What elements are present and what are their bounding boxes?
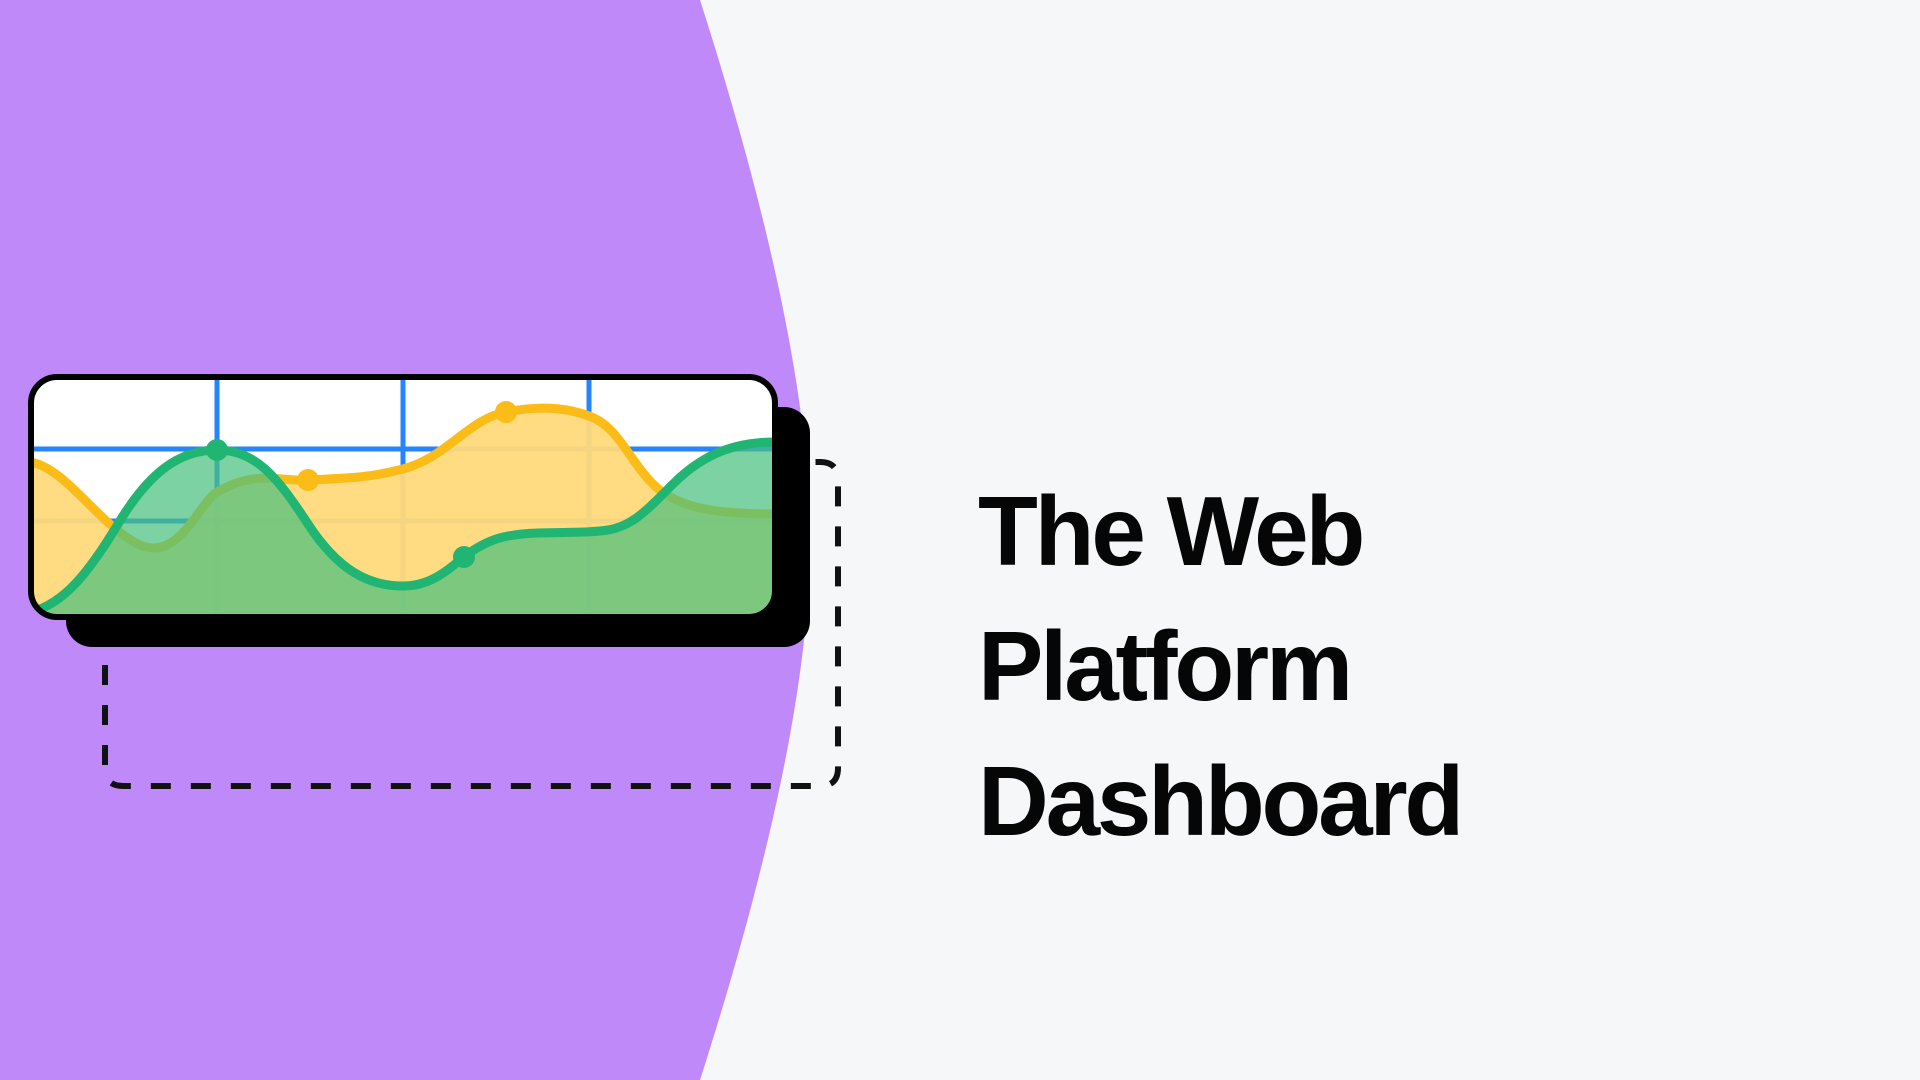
green-data-point-1[interactable] [206,439,228,461]
yellow-data-point-2[interactable] [495,401,517,423]
yellow-data-point-1[interactable] [297,469,319,491]
green-data-point-2[interactable] [453,546,475,568]
chart-card[interactable] [28,374,848,664]
hero-slide: The Web Platform Dashboard [0,0,1920,1080]
chart-card-svg [28,374,848,664]
page-title-line-3: Dashboard [978,734,1798,869]
page-title-line-2: Platform [978,599,1798,734]
page-title-line-1: The Web [978,464,1798,599]
page-title: The Web Platform Dashboard [978,464,1798,869]
